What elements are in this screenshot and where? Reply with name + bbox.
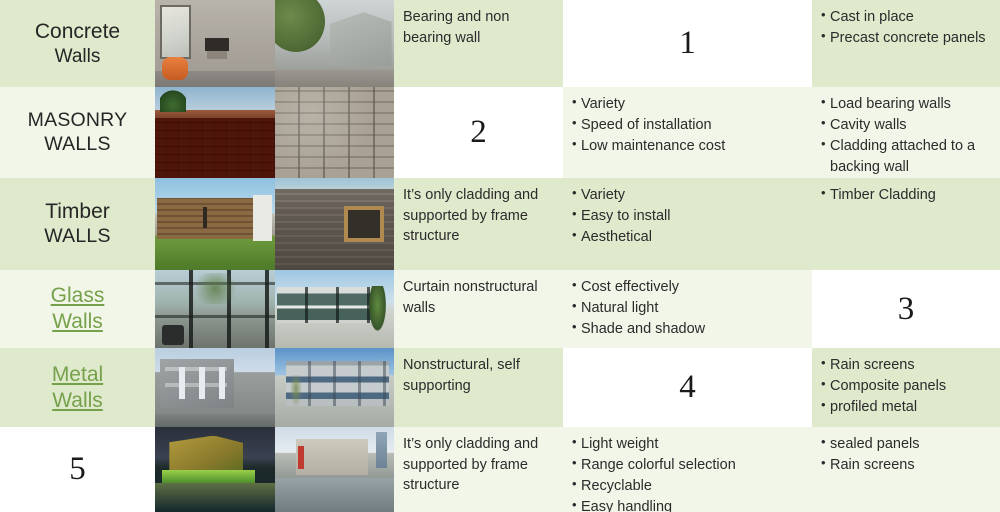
list-item: Composite panels (821, 376, 991, 397)
list-item: sealed panels (821, 434, 991, 455)
list-item: Timber Cladding (821, 185, 991, 206)
list-item: Cost effectively (572, 277, 803, 298)
advantages-cell-glass: Cost effectively Natural light Shade and… (563, 270, 812, 348)
table-row: Concrete Walls Bearing and non bearing w… (0, 0, 1000, 87)
row-label-cell-glass[interactable]: Glass Walls (0, 270, 155, 348)
definition-cell-glass: Curtain nonstructural walls (394, 270, 563, 348)
list-item: Aesthetical (572, 227, 803, 248)
definition-text: Bearing and non bearing wall (394, 0, 563, 87)
types-list: Rain screens Composite panels profiled m… (821, 355, 991, 418)
definition-cell-concrete: Bearing and non bearing wall (394, 0, 563, 87)
list-item: Cladding attached to a backing wall (821, 136, 991, 178)
wall-type-name-line2: WALLS (44, 225, 110, 249)
stone-masonry-photo (275, 87, 395, 178)
images-cell-concrete (155, 0, 394, 87)
advantages-list: Variety Speed of installation Low mainte… (572, 94, 803, 157)
row-label-cell-timber: Timber WALLS (0, 178, 155, 270)
table-row: Metal Walls Nonstructural, self supporti… (0, 348, 1000, 427)
plaza-concrete-building-photo (275, 427, 395, 512)
list-item: Cavity walls (821, 115, 991, 136)
concrete-interior-photo (155, 0, 275, 87)
images-cell-metal (155, 348, 394, 427)
lit-museum-photo (155, 427, 275, 512)
list-item: Rain screens (821, 455, 991, 476)
row-label-cell-metal[interactable]: Metal Walls (0, 348, 155, 427)
definition-cell-composite: It’s only cladding and supported by fram… (394, 427, 563, 512)
types-cell-concrete: Cast in place Precast concrete panels (812, 0, 1000, 87)
table-row: MASONRY WALLS 2 Variety Speed of install… (0, 87, 1000, 178)
types-cell-glass: 3 (812, 270, 1000, 348)
types-cell-metal: Rain screens Composite panels profiled m… (812, 348, 1000, 427)
definition-cell-timber: It’s only cladding and supported by fram… (394, 178, 563, 270)
list-item: Natural light (572, 298, 803, 319)
advantages-cell-composite: Light weight Range colorful selection Re… (563, 427, 812, 512)
definition-text: It’s only cladding and supported by fram… (394, 427, 563, 512)
advantages-list: Light weight Range colorful selection Re… (572, 434, 803, 512)
glass-facade-interior-photo (155, 270, 275, 348)
list-item: Recyclable (572, 476, 803, 497)
list-item: Rain screens (821, 355, 991, 376)
row-label-cell-hidden: 5 (0, 427, 155, 512)
blue-metal-office-photo (275, 348, 395, 427)
list-item: Load bearing walls (821, 94, 991, 115)
blank-cell-number: 4 (563, 348, 812, 427)
images-cell-composite (155, 427, 394, 512)
images-cell-timber (155, 178, 394, 270)
list-item: Low maintenance cost (572, 136, 803, 157)
types-list: sealed panels Rain screens (821, 434, 991, 476)
definition-cell-masonry: 2 (394, 87, 563, 178)
advantages-cell-concrete: 1 (563, 0, 812, 87)
row-label-cell-masonry: MASONRY WALLS (0, 87, 155, 178)
table-row: Timber WALLS It’s only cladding and supp… (0, 178, 1000, 270)
advantages-cell-masonry: Variety Speed of installation Low mainte… (563, 87, 812, 178)
wall-type-link-line2[interactable]: Walls (52, 388, 103, 414)
definition-text: Curtain nonstructural walls (394, 270, 563, 348)
types-cell-composite: sealed panels Rain screens (812, 427, 1000, 512)
definition-cell-metal: Nonstructural, self supporting (394, 348, 563, 427)
wall-type-link-line1[interactable]: Metal (52, 362, 103, 388)
wall-type-link-line2[interactable]: Walls (52, 309, 103, 335)
types-list: Cast in place Precast concrete panels (821, 7, 991, 49)
images-cell-glass (155, 270, 394, 348)
list-item: Easy to install (572, 206, 803, 227)
list-item: Variety (572, 185, 803, 206)
advantages-cell-timber: Variety Easy to install Aesthetical (563, 178, 812, 270)
blank-cell-number: 3 (812, 270, 1000, 348)
glass-pavilion-exterior-photo (275, 270, 395, 348)
list-item: Speed of installation (572, 115, 803, 136)
list-item: Cast in place (821, 7, 991, 28)
types-cell-masonry: Load bearing walls Cavity walls Cladding… (812, 87, 1000, 178)
types-list: Load bearing walls Cavity walls Cladding… (821, 94, 991, 178)
list-item: profiled metal (821, 397, 991, 418)
wall-type-link-line1[interactable]: Glass (51, 283, 105, 309)
row-label-cell-concrete: Concrete Walls (0, 0, 155, 87)
advantages-list: Variety Easy to install Aesthetical (572, 185, 803, 248)
blank-cell-number: 5 (0, 427, 155, 512)
wall-type-name-line2: WALLS (44, 133, 110, 157)
list-item: Light weight (572, 434, 803, 455)
grey-metal-clad-building-photo (155, 348, 275, 427)
list-item: Range colorful selection (572, 455, 803, 476)
definition-text: It’s only cladding and supported by fram… (394, 178, 563, 270)
images-cell-masonry (155, 87, 394, 178)
wall-type-name-line1: Concrete (35, 19, 120, 45)
list-item: Variety (572, 94, 803, 115)
concrete-exterior-photo (275, 0, 395, 87)
wall-types-comparison-table: Concrete Walls Bearing and non bearing w… (0, 0, 1000, 512)
list-item: Precast concrete panels (821, 28, 991, 49)
definition-text: Nonstructural, self supporting (394, 348, 563, 427)
blank-cell-number: 1 (563, 0, 812, 87)
wall-type-name-line2: Walls (55, 45, 101, 68)
list-item: Easy handling (572, 497, 803, 512)
dark-brick-panel-photo (275, 178, 395, 270)
types-list: Timber Cladding (821, 185, 991, 206)
table-row: Glass Walls Curtain nonstructural walls … (0, 270, 1000, 348)
blank-cell-number: 2 (394, 87, 563, 178)
brick-wall-photo (155, 87, 275, 178)
advantages-list: Cost effectively Natural light Shade and… (572, 277, 803, 340)
advantages-cell-metal: 4 (563, 348, 812, 427)
timber-clad-building-photo (155, 178, 275, 270)
wall-type-name-line1: Timber (45, 199, 110, 225)
table-row: 5 It’s only cladding and supported by fr… (0, 427, 1000, 512)
types-cell-timber: Timber Cladding (812, 178, 1000, 270)
wall-type-name-line1: MASONRY (28, 109, 128, 133)
list-item: Shade and shadow (572, 319, 803, 340)
